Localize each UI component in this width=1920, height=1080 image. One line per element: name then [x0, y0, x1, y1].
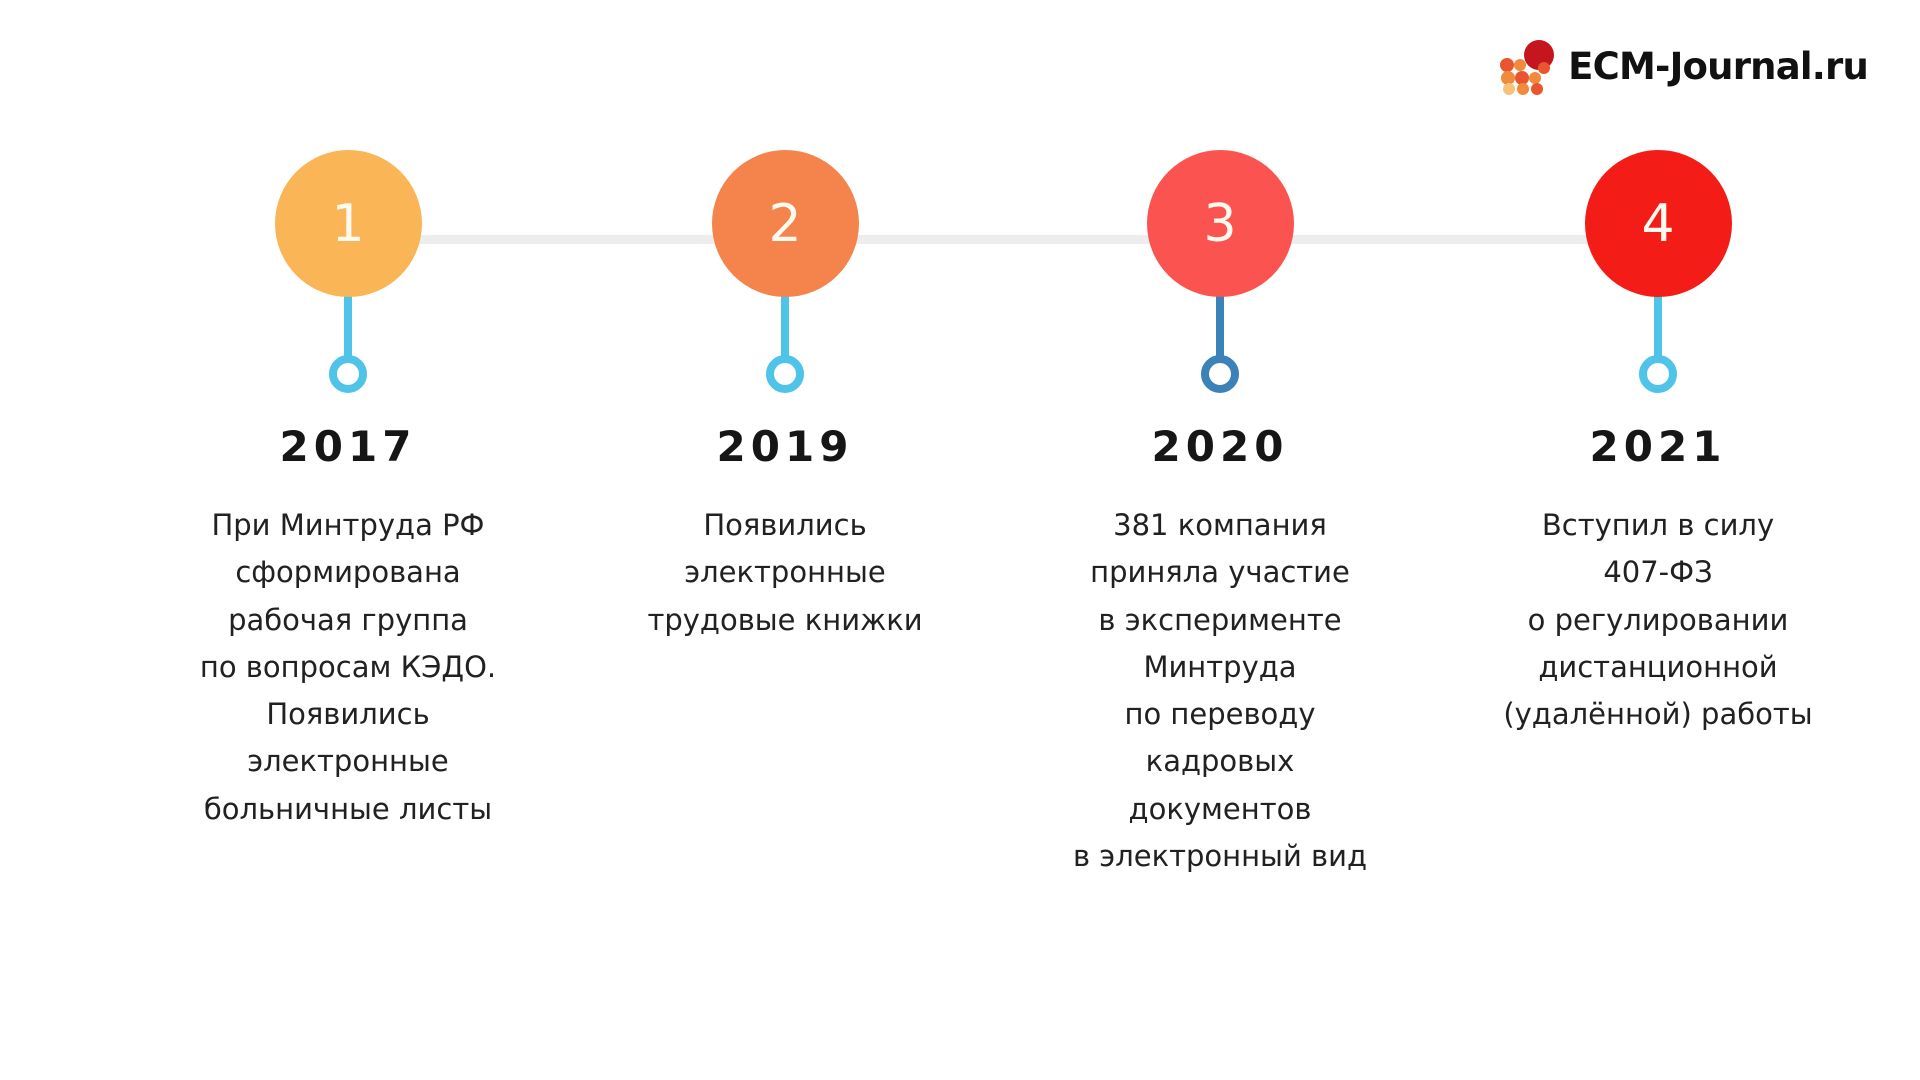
timeline-description: При Минтруда РФсформированарабочая групп…	[158, 502, 538, 833]
dot-cluster-logo-icon	[1498, 38, 1554, 94]
description-line: приняла участие	[1030, 549, 1410, 596]
description-line: больничные листы	[158, 786, 538, 833]
timeline-year-label: 2019	[595, 426, 975, 468]
description-line: электронные	[158, 738, 538, 785]
timeline-step-badge-2[interactable]: 2	[712, 150, 859, 297]
description-line: электронные	[595, 549, 975, 596]
description-line: (удалённой) работы	[1468, 691, 1848, 738]
timeline-ring-marker-2017	[329, 355, 367, 393]
description-line: При Минтруда РФ	[158, 502, 538, 549]
timeline-ring-marker-2019	[766, 355, 804, 393]
description-line: Минтруда	[1030, 644, 1410, 691]
timeline-year-label: 2020	[1030, 426, 1410, 468]
timeline-year-label: 2017	[158, 426, 538, 468]
description-line: Вступил в силу	[1468, 502, 1848, 549]
timeline-description: 381 компанияприняла участиев эксперимент…	[1030, 502, 1410, 880]
timeline-nodes: 1234	[0, 150, 1920, 410]
site-logo[interactable]: ECM-Journal.ru	[1498, 38, 1868, 94]
timeline-node-2020[interactable]: 3	[1075, 150, 1365, 393]
timeline-ring-marker-2020	[1201, 355, 1239, 393]
description-line: Появились	[595, 502, 975, 549]
timeline-year-label: 2021	[1468, 426, 1848, 468]
description-line: в эксперименте	[1030, 597, 1410, 644]
timeline-step-badge-4[interactable]: 4	[1585, 150, 1732, 297]
timeline-entry-2021: 2021Вступил в силу407-ФЗо регулированиид…	[1468, 426, 1848, 738]
description-line: трудовые книжки	[595, 597, 975, 644]
logo-wordmark: ECM-Journal.ru	[1568, 45, 1868, 88]
timeline-connector-stem-2020	[1216, 295, 1224, 357]
description-line: документов	[1030, 786, 1410, 833]
timeline-connector-stem-2021	[1654, 295, 1662, 357]
description-line: о регулировании	[1468, 597, 1848, 644]
timeline-ring-marker-2021	[1639, 355, 1677, 393]
timeline-description: Появилисьэлектронныетрудовые книжки	[595, 502, 975, 644]
timeline-step-badge-3[interactable]: 3	[1147, 150, 1294, 297]
description-line: 381 компания	[1030, 502, 1410, 549]
timeline-node-2017[interactable]: 1	[203, 150, 493, 393]
description-line: по переводу	[1030, 691, 1410, 738]
timeline-node-2019[interactable]: 2	[640, 150, 930, 393]
description-line: дистанционной	[1468, 644, 1848, 691]
description-line: сформирована	[158, 549, 538, 596]
timeline-description: Вступил в силу407-ФЗо регулированиидиста…	[1468, 502, 1848, 738]
description-line: 407-ФЗ	[1468, 549, 1848, 596]
logo-dot-3	[1514, 59, 1526, 71]
logo-dot-8	[1503, 83, 1515, 95]
timeline-connector-stem-2019	[781, 295, 789, 357]
timeline-node-2021[interactable]: 4	[1513, 150, 1803, 393]
timeline-entry-2019: 2019Появилисьэлектронныетрудовые книжки	[595, 426, 975, 644]
description-line: по вопросам КЭДО.	[158, 644, 538, 691]
logo-dot-2	[1500, 58, 1514, 72]
description-line: рабочая группа	[158, 597, 538, 644]
description-line: кадровых	[1030, 738, 1410, 785]
logo-dot-9	[1517, 83, 1529, 95]
timeline-entry-2020: 2020381 компанияприняла участиев экспери…	[1030, 426, 1410, 880]
logo-dot-4	[1538, 62, 1550, 74]
description-line: Появились	[158, 691, 538, 738]
logo-dot-10	[1531, 83, 1543, 95]
timeline-step-badge-1[interactable]: 1	[275, 150, 422, 297]
timeline-entry-2017: 2017При Минтруда РФсформированарабочая г…	[158, 426, 538, 833]
description-line: в электронный вид	[1030, 833, 1410, 880]
timeline-connector-stem-2017	[344, 295, 352, 357]
